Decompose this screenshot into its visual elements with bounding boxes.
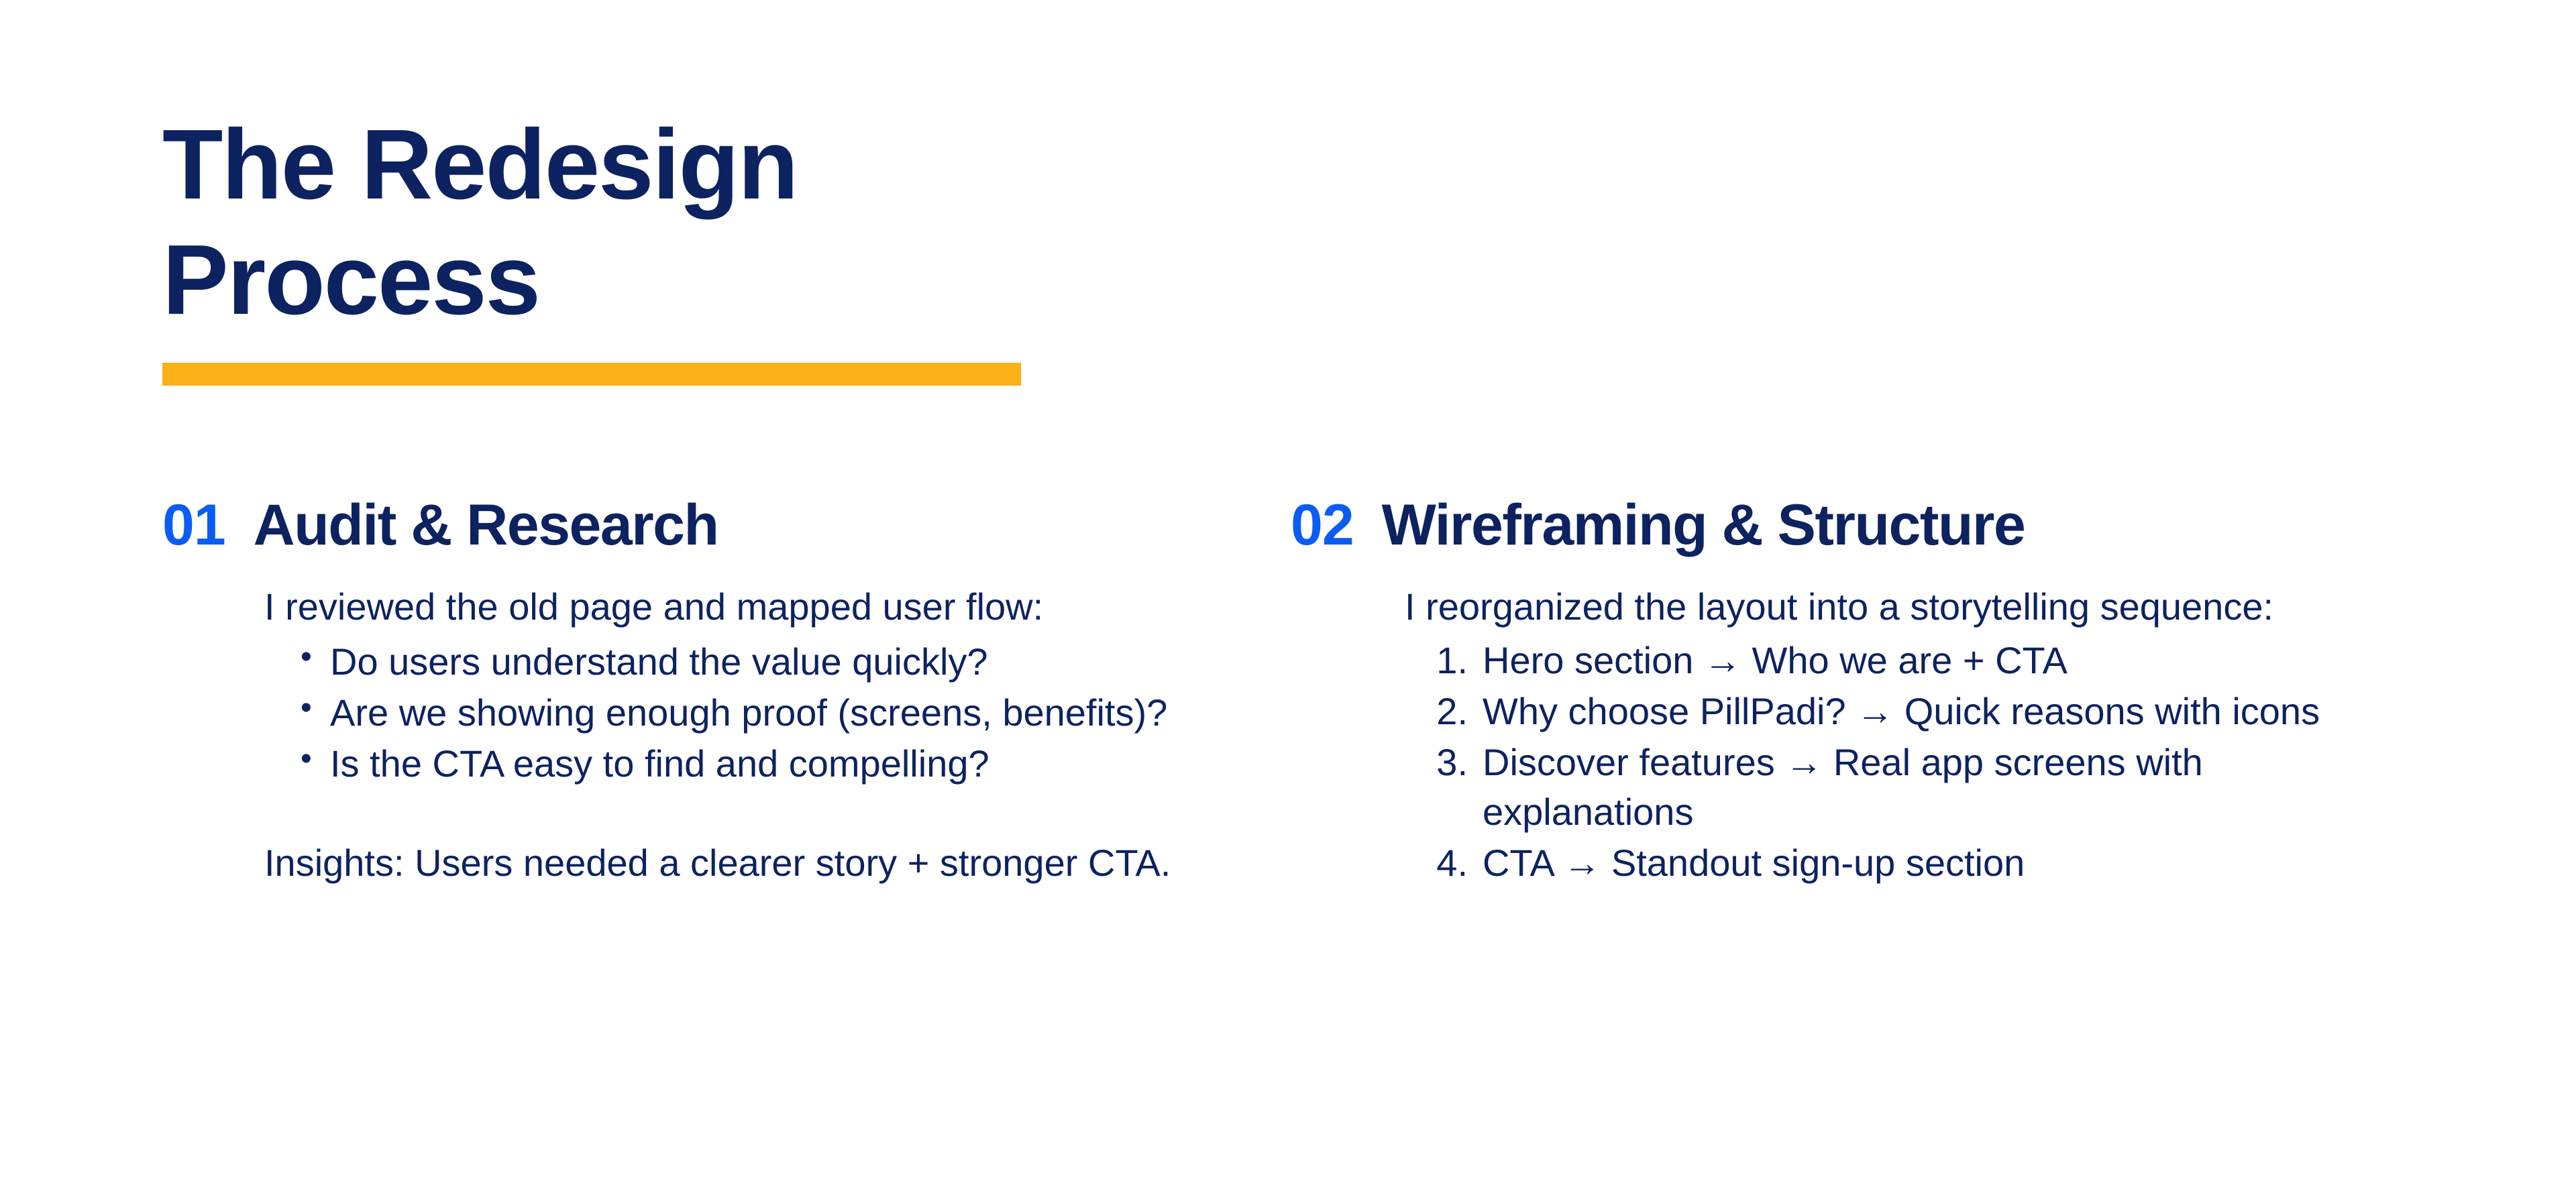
step-number-02: 02 bbox=[1291, 496, 1354, 554]
column-header: 01 Audit & Research bbox=[162, 496, 1249, 554]
lead-paragraph-01: I reviewed the old page and mapped user … bbox=[264, 582, 1244, 632]
step-heading-01: Audit & Research bbox=[254, 496, 718, 554]
list-item: Discover features → Real app screens wit… bbox=[1418, 738, 2384, 837]
list-item: Why choose PillPadi? → Quick reasons wit… bbox=[1418, 687, 2384, 736]
column-wireframing-structure: 02 Wireframing & Structure I reorganized… bbox=[1291, 496, 2431, 889]
title-accent-bar bbox=[162, 363, 1021, 386]
audit-question-list: Do users understand the value quickly? A… bbox=[264, 637, 1249, 789]
column-body-01: I reviewed the old page and mapped user … bbox=[162, 582, 1249, 888]
step-heading-02: Wireframing & Structure bbox=[1382, 496, 2025, 554]
column-audit-research: 01 Audit & Research I reviewed the old p… bbox=[162, 496, 1249, 888]
column-header: 02 Wireframing & Structure bbox=[1291, 496, 2431, 554]
list-item: CTA → Standout sign-up section bbox=[1418, 838, 2384, 888]
slide-canvas: The Redesign Process 01 Audit & Research… bbox=[0, 0, 2576, 1195]
process-columns: 01 Audit & Research I reviewed the old p… bbox=[0, 496, 2576, 889]
page-title: The Redesign Process bbox=[162, 107, 1236, 337]
list-item: Hero section → Who we are + CTA bbox=[1418, 636, 2384, 685]
lead-paragraph-02: I reorganized the layout into a storytel… bbox=[1405, 582, 2344, 632]
wireframe-sequence-list: Hero section → Who we are + CTA Why choo… bbox=[1405, 636, 2431, 888]
list-item: Is the CTA easy to find and compelling? bbox=[295, 739, 1248, 789]
list-item: Are we showing enough proof (screens, be… bbox=[295, 688, 1248, 738]
step-number-01: 01 bbox=[162, 496, 225, 554]
list-item: Do users understand the value quickly? bbox=[295, 637, 1248, 687]
insights-paragraph: Insights: Users needed a clearer story +… bbox=[264, 838, 1244, 888]
title-block: The Redesign Process bbox=[162, 107, 1236, 386]
column-body-02: I reorganized the layout into a storytel… bbox=[1291, 582, 2431, 887]
